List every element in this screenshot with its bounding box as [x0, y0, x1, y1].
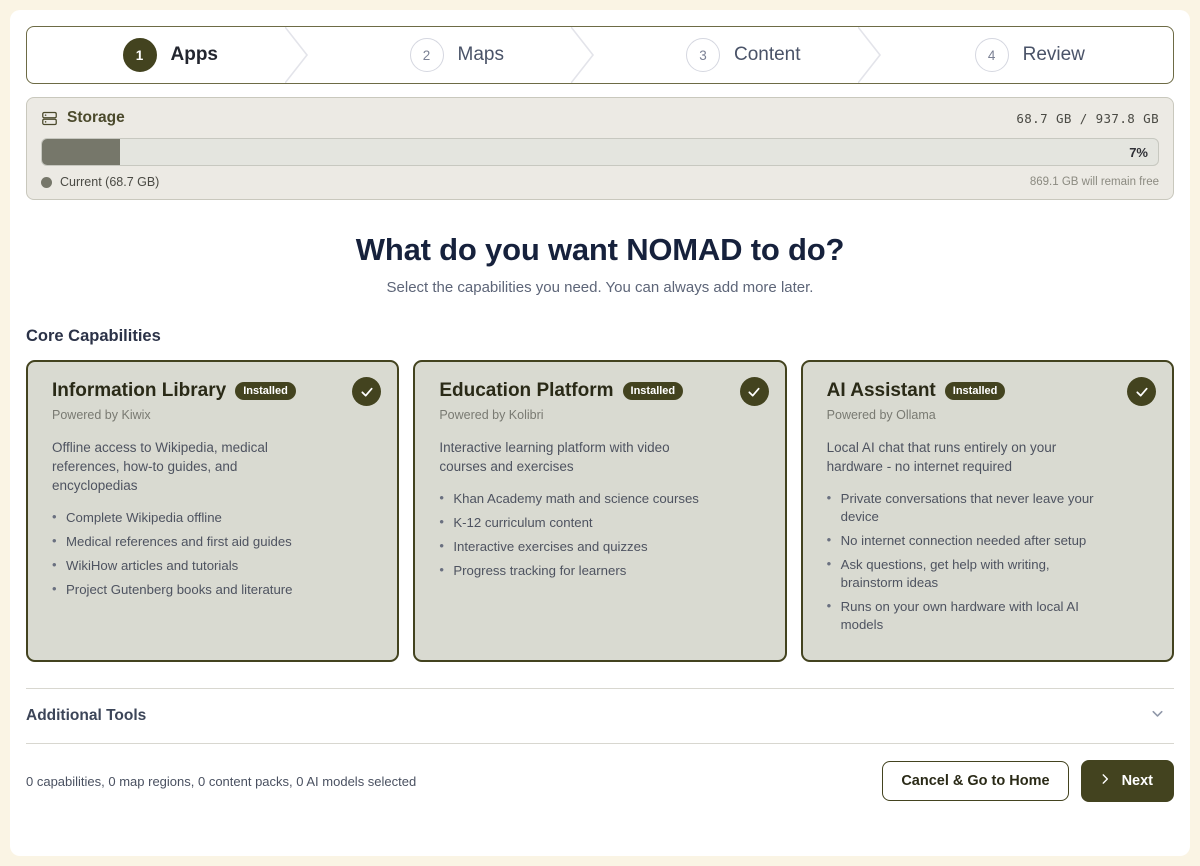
card-title: Information Library [52, 380, 226, 402]
storage-title-group: Storage [41, 109, 125, 127]
card-title-row: AI Assistant Installed [827, 380, 1154, 402]
next-button-label: Next [1122, 773, 1153, 789]
wizard-stepper: 1 Apps 2 Maps 3 Content 4 Review [26, 26, 1174, 84]
card-description: Local AI chat that runs entirely on your… [827, 438, 1099, 476]
status-badge: Installed [945, 382, 1006, 400]
legend-dot-current [41, 177, 52, 188]
step-label-maps: Maps [458, 44, 504, 66]
storage-legend: Current (68.7 GB) [41, 175, 159, 189]
legend-label-current: Current (68.7 GB) [60, 175, 159, 189]
card-title-row: Information Library Installed [52, 380, 379, 402]
card-title: AI Assistant [827, 380, 936, 402]
card-powered-by: Powered by Ollama [827, 408, 1154, 422]
list-item: Project Gutenberg books and literature [52, 581, 324, 599]
capability-card-ai-assistant[interactable]: AI Assistant Installed Powered by Ollama… [801, 360, 1174, 662]
list-item: WikiHow articles and tutorials [52, 557, 324, 575]
card-feature-list: Complete Wikipedia offline Medical refer… [52, 509, 379, 599]
card-feature-list: Private conversations that never leave y… [827, 490, 1154, 634]
list-item: Interactive exercises and quizzes [439, 538, 711, 556]
card-powered-by: Powered by Kolibri [439, 408, 766, 422]
capability-card-education-platform[interactable]: Education Platform Installed Powered by … [413, 360, 786, 662]
additional-tools-accordion[interactable]: Additional Tools [26, 689, 1174, 743]
storage-panel: Storage 68.7 GB / 937.8 GB 7% Current (6… [26, 97, 1174, 200]
card-selected-checkmark[interactable] [740, 377, 769, 406]
step-review[interactable]: 4 Review [887, 27, 1174, 83]
next-button[interactable]: Next [1081, 760, 1174, 802]
check-icon [359, 384, 375, 400]
list-item: Khan Academy math and science courses [439, 490, 711, 508]
chevron-down-icon[interactable] [1149, 705, 1174, 727]
capability-card-grid: Information Library Installed Powered by… [26, 360, 1174, 662]
storage-percent-label: 7% [1129, 139, 1148, 165]
storage-usage-total: 68.7 GB / 937.8 GB [1016, 111, 1159, 126]
step-number-2: 2 [410, 38, 444, 72]
selection-summary: 0 capabilities, 0 map regions, 0 content… [26, 774, 416, 789]
storage-progress-fill [42, 139, 120, 165]
list-item: K-12 curriculum content [439, 514, 711, 532]
step-content[interactable]: 3 Content [600, 27, 887, 83]
step-label-content: Content [734, 44, 801, 66]
page-subtitle: Select the capabilities you need. You ca… [26, 279, 1174, 296]
list-item: No internet connection needed after setu… [827, 532, 1099, 550]
storage-remaining-note: 869.1 GB will remain free [1030, 176, 1159, 188]
step-label-review: Review [1023, 44, 1085, 66]
section-title-core-capabilities: Core Capabilities [26, 327, 1174, 346]
capability-card-information-library[interactable]: Information Library Installed Powered by… [26, 360, 399, 662]
footer-bar: 0 capabilities, 0 map regions, 0 content… [26, 760, 1174, 802]
step-maps[interactable]: 2 Maps [314, 27, 601, 83]
footer-actions: Cancel & Go to Home Next [882, 760, 1174, 802]
step-number-3: 3 [686, 38, 720, 72]
step-separator-icon [858, 27, 888, 83]
list-item: Medical references and first aid guides [52, 533, 324, 551]
step-number-4: 4 [975, 38, 1009, 72]
card-feature-list: Khan Academy math and science courses K-… [439, 490, 766, 580]
step-label-apps: Apps [171, 44, 219, 66]
check-icon [746, 384, 762, 400]
list-item: Runs on your own hardware with local AI … [827, 598, 1099, 634]
step-separator-icon [571, 27, 601, 83]
status-badge: Installed [235, 382, 296, 400]
card-selected-checkmark[interactable] [1127, 377, 1156, 406]
list-item: Ask questions, get help with writing, br… [827, 556, 1099, 592]
divider-bottom [26, 743, 1174, 744]
list-item: Private conversations that never leave y… [827, 490, 1099, 526]
card-description: Offline access to Wikipedia, medical ref… [52, 438, 324, 495]
step-apps[interactable]: 1 Apps [27, 27, 314, 83]
card-title: Education Platform [439, 380, 613, 402]
list-item: Progress tracking for learners [439, 562, 711, 580]
page-title: What do you want NOMAD to do? [26, 232, 1174, 268]
card-description: Interactive learning platform with video… [439, 438, 711, 476]
chevron-right-icon [1098, 772, 1112, 790]
storage-progress-bar: 7% [41, 138, 1159, 166]
storage-footer: Current (68.7 GB) 869.1 GB will remain f… [41, 175, 1159, 189]
storage-label: Storage [67, 109, 125, 127]
setup-wizard-window: 1 Apps 2 Maps 3 Content 4 Review [10, 10, 1190, 856]
list-item: Complete Wikipedia offline [52, 509, 324, 527]
check-icon [1134, 384, 1150, 400]
step-number-1: 1 [123, 38, 157, 72]
server-rack-icon [41, 110, 58, 127]
card-title-row: Education Platform Installed [439, 380, 766, 402]
cancel-button[interactable]: Cancel & Go to Home [882, 761, 1068, 801]
storage-header: Storage 68.7 GB / 937.8 GB [41, 109, 1159, 127]
step-separator-icon [285, 27, 315, 83]
status-badge: Installed [623, 382, 684, 400]
card-powered-by: Powered by Kiwix [52, 408, 379, 422]
additional-tools-label: Additional Tools [26, 707, 146, 725]
